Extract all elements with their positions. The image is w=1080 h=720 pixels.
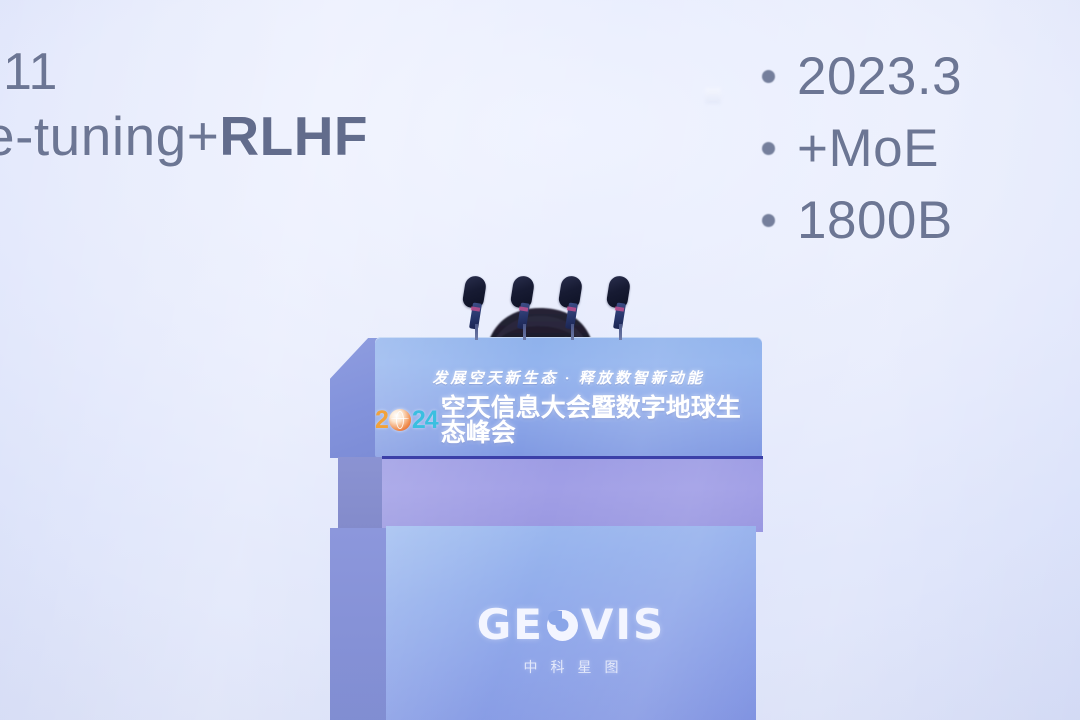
microphone-stem <box>475 324 478 340</box>
bullet-dot-icon <box>762 70 775 83</box>
geovis-orbit-o-icon <box>547 610 578 641</box>
podium-base-side-panel <box>330 528 390 720</box>
slide-text-left-bottom-bold: RLHF <box>219 105 368 167</box>
slide-bullet-label: 2023.3 <box>797 46 962 107</box>
microphone-row <box>462 276 642 340</box>
slide-bullet-label: +MoE <box>797 118 939 179</box>
conference-photo-scene: .11 e-tuning+RLHF 2023.3 +MoE 1800B <box>0 0 1080 720</box>
banner-year-suffix: 24 <box>412 408 438 433</box>
microphone <box>606 276 636 340</box>
slide-bullet-label: 1800B <box>797 190 953 251</box>
podium-mid-side-panel <box>338 457 386 529</box>
podium-desk-front-panel: 发展空天新生态 · 释放数智新动能 2 24 空天信息大会暨数字地球生态峰会 <box>375 337 762 457</box>
slide-bullet-item: 2023.3 <box>762 40 962 112</box>
slide-bullet-item: 1800B <box>762 184 962 256</box>
microphone-stem <box>523 324 526 340</box>
banner-year-prefix: 2 <box>375 408 388 433</box>
podium-mid-band <box>382 456 763 532</box>
microphone <box>510 276 540 340</box>
globe-icon <box>389 409 411 431</box>
slide-text-left-bottom-normal: e-tuning+ <box>0 105 219 167</box>
bullet-dot-icon <box>762 214 775 227</box>
microphone-stem <box>619 324 622 340</box>
microphone <box>558 276 588 340</box>
bullet-dot-icon <box>762 142 775 155</box>
speaker-podium: 发展空天新生态 · 释放数智新动能 2 24 空天信息大会暨数字地球生态峰会 G… <box>330 332 762 720</box>
slide-bullet-item: +MoE <box>762 112 962 184</box>
geovis-wordmark-before: GE <box>477 604 544 646</box>
slide-text-left-bottom: e-tuning+RLHF <box>0 104 368 168</box>
geovis-logo: GE VIS 中科星图 <box>386 604 756 677</box>
slide-bullet-list: 2023.3 +MoE 1800B <box>762 40 962 256</box>
slide-text-left-top: .11 <box>0 42 58 102</box>
podium-banner-title: 空天信息大会暨数字地球生态峰会 <box>441 395 762 445</box>
podium-banner-title-row: 2 24 空天信息大会暨数字地球生态峰会 <box>375 395 762 445</box>
podium-base-front-panel: GE VIS 中科星图 <box>386 526 756 720</box>
podium-banner-tagline: 发展空天新生态 · 释放数智新动能 <box>375 367 762 388</box>
wall-seam-mark <box>705 88 721 104</box>
geovis-wordmark-after: VIS <box>581 604 665 646</box>
geovis-wordmark: GE VIS <box>386 604 756 646</box>
microphone-stem <box>571 324 574 340</box>
geovis-chinese-name: 中科星图 <box>386 657 756 677</box>
microphone <box>462 276 492 340</box>
podium-banner-year: 2 24 <box>375 408 438 433</box>
